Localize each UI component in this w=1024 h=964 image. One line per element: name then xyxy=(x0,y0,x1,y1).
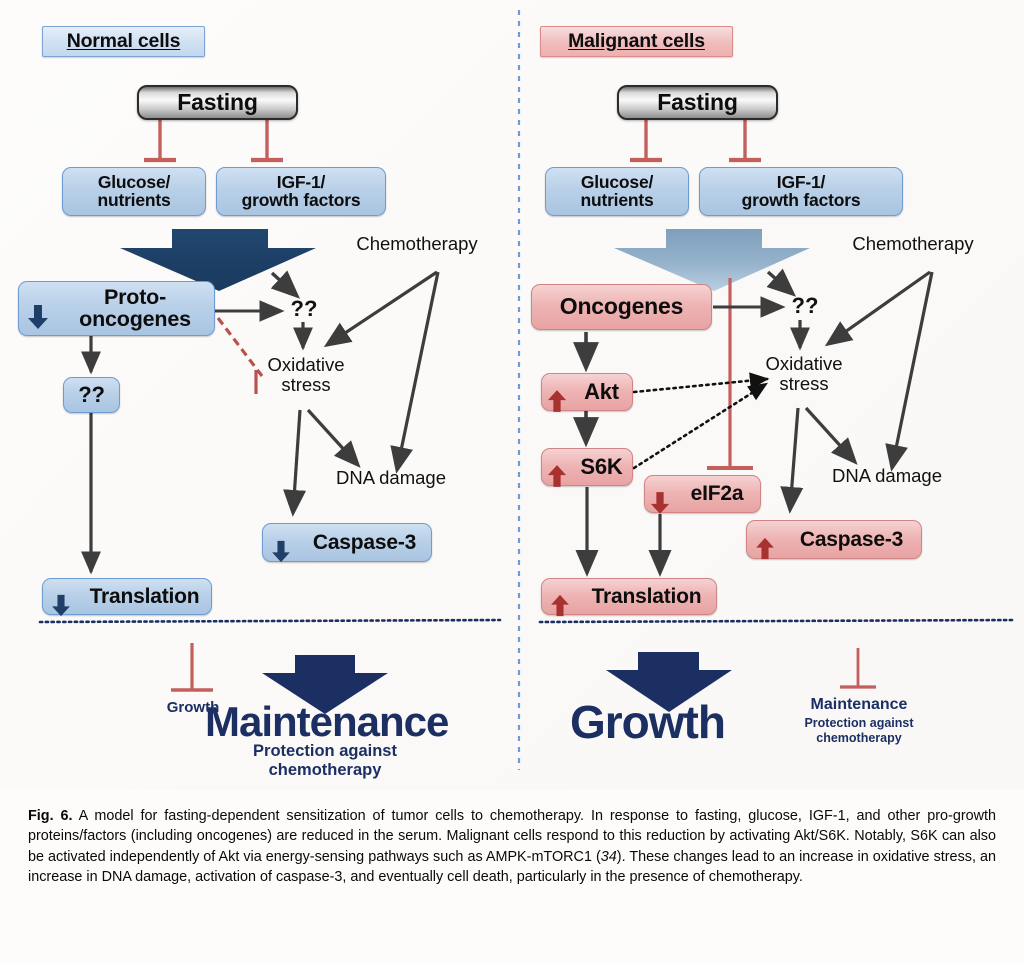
left-glucose-label: Glucose/ nutrients xyxy=(97,174,170,210)
left-proto-oncogenes-label: Proto- oncogenes xyxy=(56,287,214,331)
left-arrow-bigarrow-to-qq xyxy=(272,273,297,296)
right-inhibit-fasting-igf1 xyxy=(729,119,761,160)
right-arrow-oxidative-to-caspase xyxy=(790,408,798,510)
right-maintenance-subtitle: Protection against chemotherapy xyxy=(795,716,923,746)
right-oncogenes-node: Oncogenes xyxy=(531,284,712,330)
left-translation-label: Translation xyxy=(78,586,211,607)
caption-reference: 34 xyxy=(601,849,617,865)
left-arrow-oxidative-to-caspase xyxy=(293,410,300,513)
right-arrow-bigarrow-to-qq xyxy=(768,272,793,294)
left-oxidative-stress-label: Oxidative stress xyxy=(258,355,354,395)
right-translation-label: Translation xyxy=(577,586,716,607)
left-inhibit-fasting-igf1 xyxy=(251,119,283,160)
left-chemotherapy-label: Chemotherapy xyxy=(322,234,512,254)
right-s6k-label: S6K xyxy=(571,456,632,478)
caption-figure-label: Fig. 6. xyxy=(28,808,73,824)
left-inhibit-growth xyxy=(171,643,213,690)
left-proto-oncogenes-node: Proto- oncogenes xyxy=(18,281,215,336)
left-caspase3-label: Caspase-3 xyxy=(298,532,431,553)
left-arrow-oxidative-to-dna xyxy=(308,410,358,465)
left-outcome-subtitle: Protection against chemotherapy xyxy=(205,742,445,781)
right-outcome-title: Growth xyxy=(570,695,725,749)
left-arrow-chemo-to-dna xyxy=(397,272,438,470)
right-panel-header-label: Malignant cells xyxy=(568,32,705,52)
left-section-divider xyxy=(40,620,500,622)
down-arrow-icon xyxy=(271,518,291,567)
down-arrow-icon xyxy=(27,282,49,335)
right-glucose-label: Glucose/ nutrients xyxy=(580,174,653,210)
right-akt-node: Akt xyxy=(541,373,633,411)
down-arrow-icon xyxy=(650,469,670,519)
right-dotted-s6k-to-oxidative xyxy=(634,384,766,468)
right-oxidative-stress-label: Oxidative stress xyxy=(756,354,852,394)
right-inhibit-fasting-glucose xyxy=(630,119,662,160)
left-arrow-chemo-to-oxidative xyxy=(327,272,437,345)
right-igf1-node: IGF-1/ growth factors xyxy=(699,167,903,216)
right-section-divider xyxy=(540,620,1014,622)
right-dotted-akt-to-oxidative xyxy=(634,379,767,392)
left-fasting-node: Fasting xyxy=(137,85,298,120)
right-eif2a-node: eIF2a xyxy=(644,475,761,513)
left-inhibit-fasting-glucose xyxy=(144,119,176,160)
right-akt-label: Akt xyxy=(571,381,632,403)
left-unknown-free-label: ?? xyxy=(286,297,322,321)
right-caspase3-node: Caspase-3 xyxy=(746,520,922,559)
right-dna-damage-label: DNA damage xyxy=(812,466,962,486)
right-panel-header: Malignant cells xyxy=(540,26,733,57)
right-chemotherapy-label: Chemotherapy xyxy=(818,234,1008,254)
right-arrow-oxidative-to-dna xyxy=(806,408,855,462)
left-fasting-label: Fasting xyxy=(177,91,257,114)
left-dna-damage-label: DNA damage xyxy=(316,468,466,488)
right-fasting-node: Fasting xyxy=(617,85,778,120)
up-arrow-icon xyxy=(547,442,567,493)
left-inhibit-proto-oxidative xyxy=(218,318,262,394)
right-oncogenes-label: Oncogenes xyxy=(560,295,683,318)
left-panel-header-label: Normal cells xyxy=(67,32,181,52)
right-maintenance-label: Maintenance xyxy=(795,696,923,715)
right-caspase3-label: Caspase-3 xyxy=(782,529,921,550)
left-igf1-node: IGF-1/ growth factors xyxy=(216,167,386,216)
left-igf1-label: IGF-1/ growth factors xyxy=(242,174,361,210)
right-arrow-chemo-to-dna xyxy=(892,272,932,468)
left-outcome-title: Maintenance xyxy=(205,698,448,746)
left-panel-header: Normal cells xyxy=(42,26,205,57)
left-unknown-box-node: ?? xyxy=(63,377,120,413)
down-arrow-icon xyxy=(51,572,71,621)
left-glucose-node: Glucose/ nutrients xyxy=(62,167,206,216)
left-unknown-box-label: ?? xyxy=(78,384,104,406)
left-translation-node: Translation xyxy=(42,578,212,615)
right-arrow-chemo-to-oxidative xyxy=(828,272,930,344)
right-inhibit-maintenance xyxy=(840,648,876,687)
up-arrow-icon xyxy=(547,367,567,418)
right-fasting-label: Fasting xyxy=(657,91,737,114)
right-translation-node: Translation xyxy=(541,578,717,615)
right-unknown-free-label: ?? xyxy=(787,294,823,318)
figure-caption: Fig. 6. A model for fasting-dependent se… xyxy=(28,806,996,888)
up-arrow-icon xyxy=(755,515,775,564)
right-eif2a-label: eIF2a xyxy=(674,483,760,504)
right-s6k-node: S6K xyxy=(541,448,633,486)
left-caspase3-node: Caspase-3 xyxy=(262,523,432,562)
figure-panel: oxidative (dotted) --> oxidative (dotted… xyxy=(0,0,1024,790)
right-glucose-node: Glucose/ nutrients xyxy=(545,167,689,216)
up-arrow-icon xyxy=(550,572,570,621)
right-igf1-label: IGF-1/ growth factors xyxy=(742,174,861,210)
